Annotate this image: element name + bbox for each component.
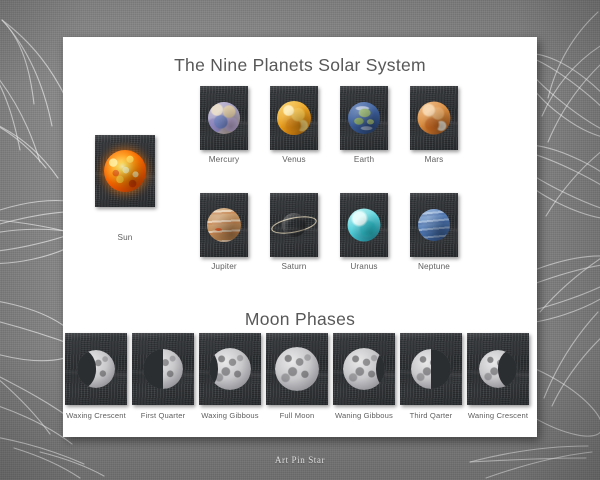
caption-neptune: Neptune bbox=[400, 262, 468, 271]
moon-full-icon bbox=[275, 347, 319, 391]
sun-surface-texture bbox=[104, 150, 146, 192]
moon-waxing-crescent-icon bbox=[77, 350, 115, 388]
moon-third-quarter-icon bbox=[411, 349, 451, 389]
saturn-body bbox=[282, 213, 306, 237]
scene: The Nine Planets Solar System Sun Mercur… bbox=[0, 0, 600, 480]
venus-icon bbox=[277, 101, 311, 135]
sun-icon bbox=[104, 150, 146, 192]
uranus-icon bbox=[348, 209, 381, 242]
caption-jupiter: Jupiter bbox=[190, 262, 258, 271]
moon-shadow bbox=[143, 349, 163, 389]
card-mercury[interactable] bbox=[200, 86, 248, 150]
moon-shadow bbox=[431, 349, 451, 389]
card-saturn[interactable] bbox=[270, 193, 318, 257]
card-waxing-crescent[interactable] bbox=[65, 333, 127, 405]
caption-third-quarter: Third Qarter bbox=[396, 411, 466, 420]
caption-first-quarter: First Quarter bbox=[128, 411, 198, 420]
great-red-spot bbox=[215, 228, 222, 231]
caption-waxing-gibbous: Waxing Gibbous bbox=[195, 411, 265, 420]
card-waning-gibbous[interactable] bbox=[333, 333, 395, 405]
caption-waxing-crescent: Waxing Crescent bbox=[61, 411, 131, 420]
moon-waning-crescent-icon bbox=[479, 350, 517, 388]
card-earth[interactable] bbox=[340, 86, 388, 150]
mercury-icon bbox=[208, 102, 240, 134]
caption-saturn: Saturn bbox=[260, 262, 328, 271]
jupiter-icon bbox=[207, 208, 241, 242]
card-third-quarter[interactable] bbox=[400, 333, 462, 405]
moon-waning-gibbous-icon bbox=[343, 348, 385, 390]
mars-icon bbox=[418, 102, 451, 135]
card-venus[interactable] bbox=[270, 86, 318, 150]
watermark: Art Pin Star bbox=[0, 455, 600, 465]
earth-icon bbox=[348, 102, 380, 134]
card-full-moon[interactable] bbox=[266, 333, 328, 405]
card-sun[interactable] bbox=[95, 135, 155, 207]
caption-waning-crescent: Waning Crescent bbox=[463, 411, 533, 420]
caption-mars: Mars bbox=[400, 155, 468, 164]
caption-earth: Earth bbox=[330, 155, 398, 164]
caption-sun: Sun bbox=[95, 233, 155, 242]
poster: The Nine Planets Solar System Sun Mercur… bbox=[63, 37, 537, 437]
caption-venus: Venus bbox=[260, 155, 328, 164]
saturn-icon bbox=[272, 208, 316, 242]
card-jupiter[interactable] bbox=[200, 193, 248, 257]
caption-full-moon: Full Moon bbox=[262, 411, 332, 420]
card-mars[interactable] bbox=[410, 86, 458, 150]
page-title-moon-phases: Moon Phases bbox=[63, 309, 537, 330]
card-neptune[interactable] bbox=[410, 193, 458, 257]
caption-mercury: Mercury bbox=[190, 155, 258, 164]
card-uranus[interactable] bbox=[340, 193, 388, 257]
moon-surface bbox=[275, 347, 319, 391]
page-title-planets: The Nine Planets Solar System bbox=[63, 55, 537, 76]
caption-uranus: Uranus bbox=[330, 262, 398, 271]
neptune-icon bbox=[418, 209, 450, 241]
card-waxing-gibbous[interactable] bbox=[199, 333, 261, 405]
moon-waxing-gibbous-icon bbox=[209, 348, 251, 390]
card-first-quarter[interactable] bbox=[132, 333, 194, 405]
moon-first-quarter-icon bbox=[143, 349, 183, 389]
caption-waning-gibbous: Waning Gibbous bbox=[329, 411, 399, 420]
card-waning-crescent[interactable] bbox=[467, 333, 529, 405]
